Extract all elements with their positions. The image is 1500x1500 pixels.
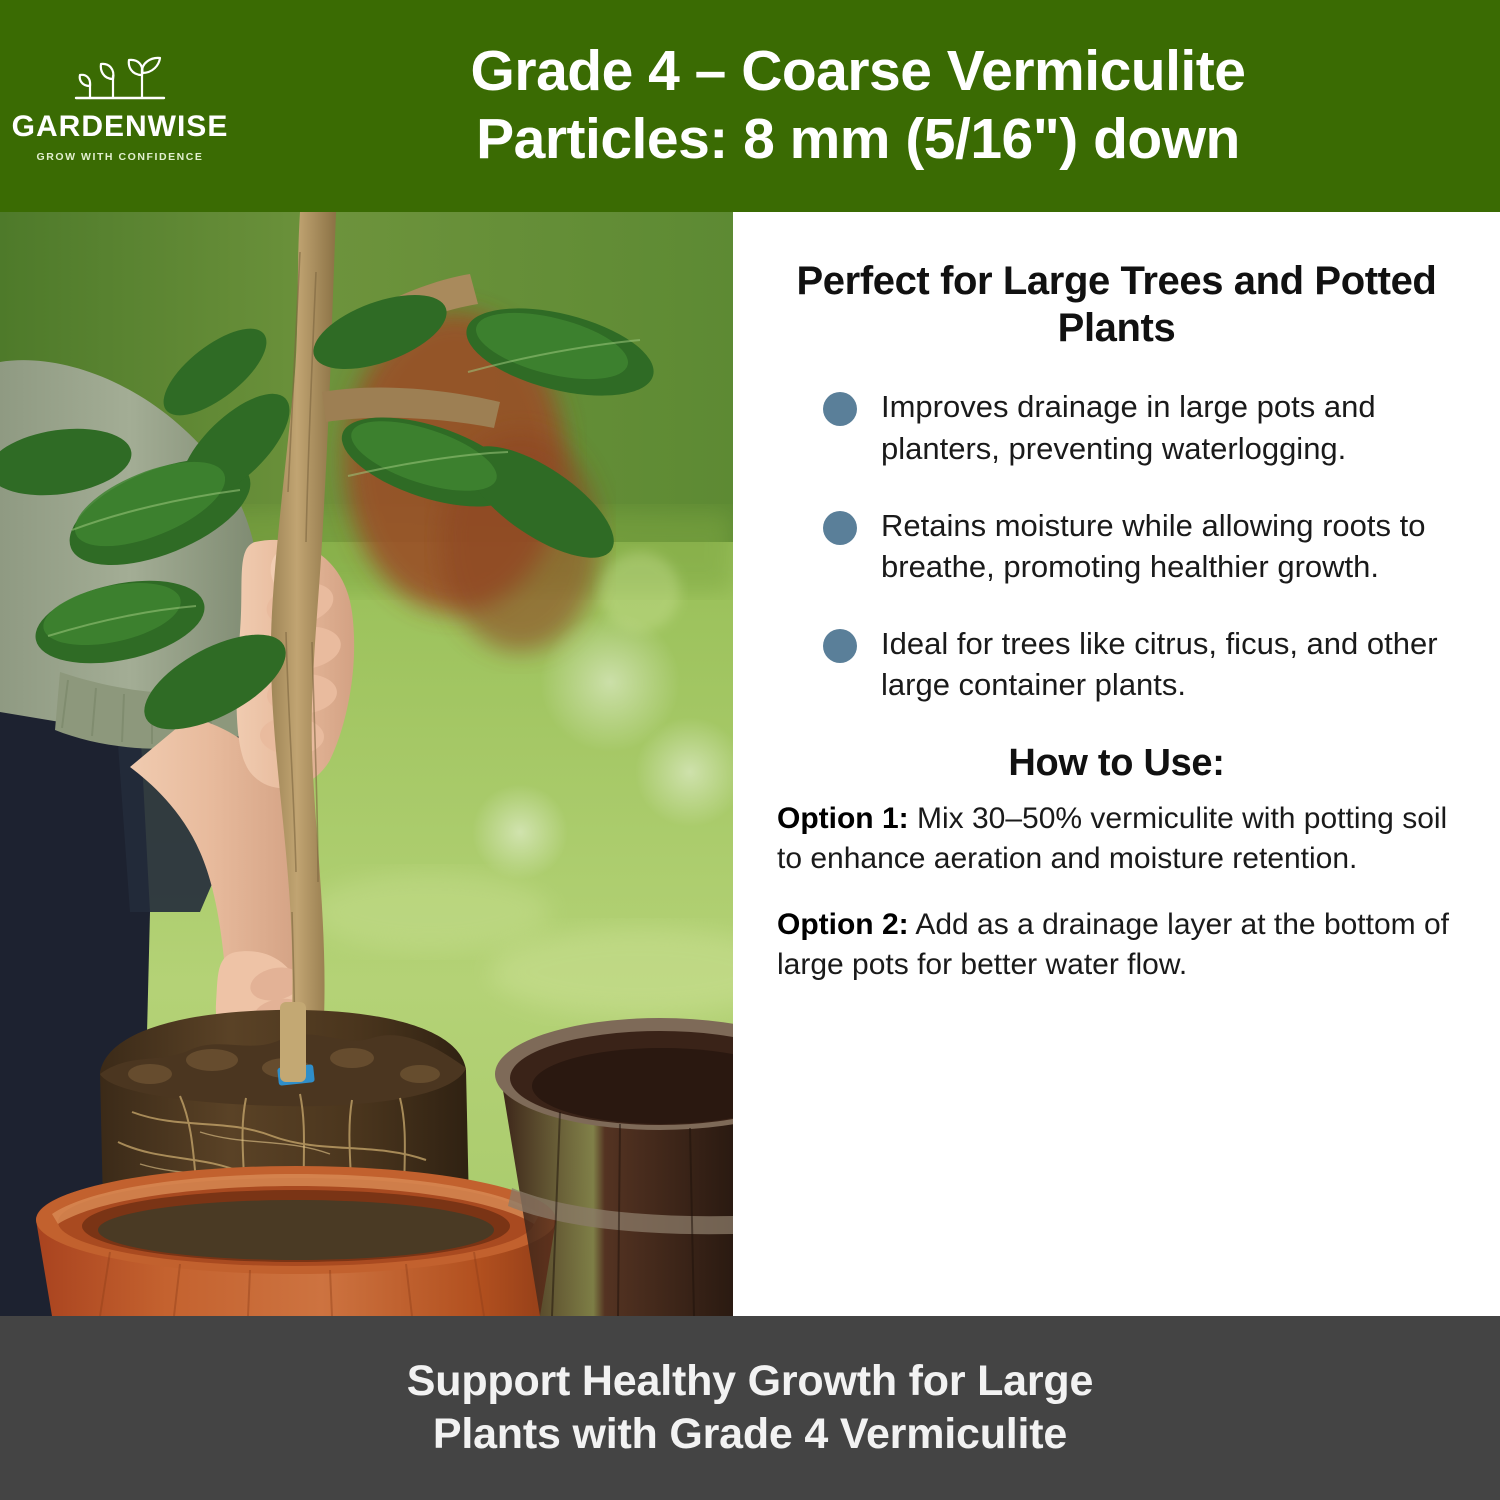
list-item: Retains moisture while allowing roots to… <box>777 505 1456 587</box>
bullet-text: Retains moisture while allowing roots to… <box>881 505 1456 587</box>
seedling-sprouts-icon <box>68 53 172 110</box>
list-item: Ideal for trees like citrus, ficus, and … <box>777 623 1456 705</box>
bullet-text: Ideal for trees like citrus, ficus, and … <box>881 623 1456 705</box>
bullet-dot-icon <box>823 511 857 545</box>
header-title-line-2: Particles: 8 mm (5/16") down <box>240 106 1476 174</box>
header-banner: GARDENWISE GROW WITH CONFIDENCE Grade 4 … <box>0 0 1500 212</box>
option-2-label: Option 2: <box>777 908 909 941</box>
brand-name: GARDENWISE <box>12 112 229 142</box>
footer-line-2: Plants with Grade 4 Vermiculite <box>407 1408 1093 1461</box>
info-panel: Perfect for Large Trees and Potted Plant… <box>733 212 1500 1316</box>
page-title: Grade 4 – Coarse Vermiculite Particles: … <box>240 38 1500 174</box>
footer-tagline: Support Healthy Growth for Large Plants … <box>407 1355 1093 1462</box>
bullet-dot-icon <box>823 629 857 663</box>
brand-logo: GARDENWISE GROW WITH CONFIDENCE <box>0 49 240 163</box>
option-1: Option 1: Mix 30–50% vermiculite with po… <box>777 799 1456 879</box>
how-to-use-heading: How to Use: <box>777 742 1456 785</box>
footer-line-1: Support Healthy Growth for Large <box>407 1357 1093 1405</box>
brand-tagline: GROW WITH CONFIDENCE <box>37 151 204 163</box>
bullet-text: Improves drainage in large pots and plan… <box>881 386 1456 468</box>
footer-banner: Support Healthy Growth for Large Plants … <box>0 1316 1500 1500</box>
list-item: Improves drainage in large pots and plan… <box>777 386 1456 468</box>
content-area: Perfect for Large Trees and Potted Plant… <box>0 212 1500 1316</box>
panel-heading: Perfect for Large Trees and Potted Plant… <box>777 258 1456 352</box>
product-infographic: GARDENWISE GROW WITH CONFIDENCE Grade 4 … <box>0 0 1500 1500</box>
repotting-tree-photo <box>0 212 733 1316</box>
header-title-line-1: Grade 4 – Coarse Vermiculite <box>471 39 1246 103</box>
benefits-list: Improves drainage in large pots and plan… <box>777 386 1456 705</box>
bullet-dot-icon <box>823 392 857 426</box>
option-2: Option 2: Add as a drainage layer at the… <box>777 905 1456 985</box>
option-1-label: Option 1: <box>777 802 909 835</box>
